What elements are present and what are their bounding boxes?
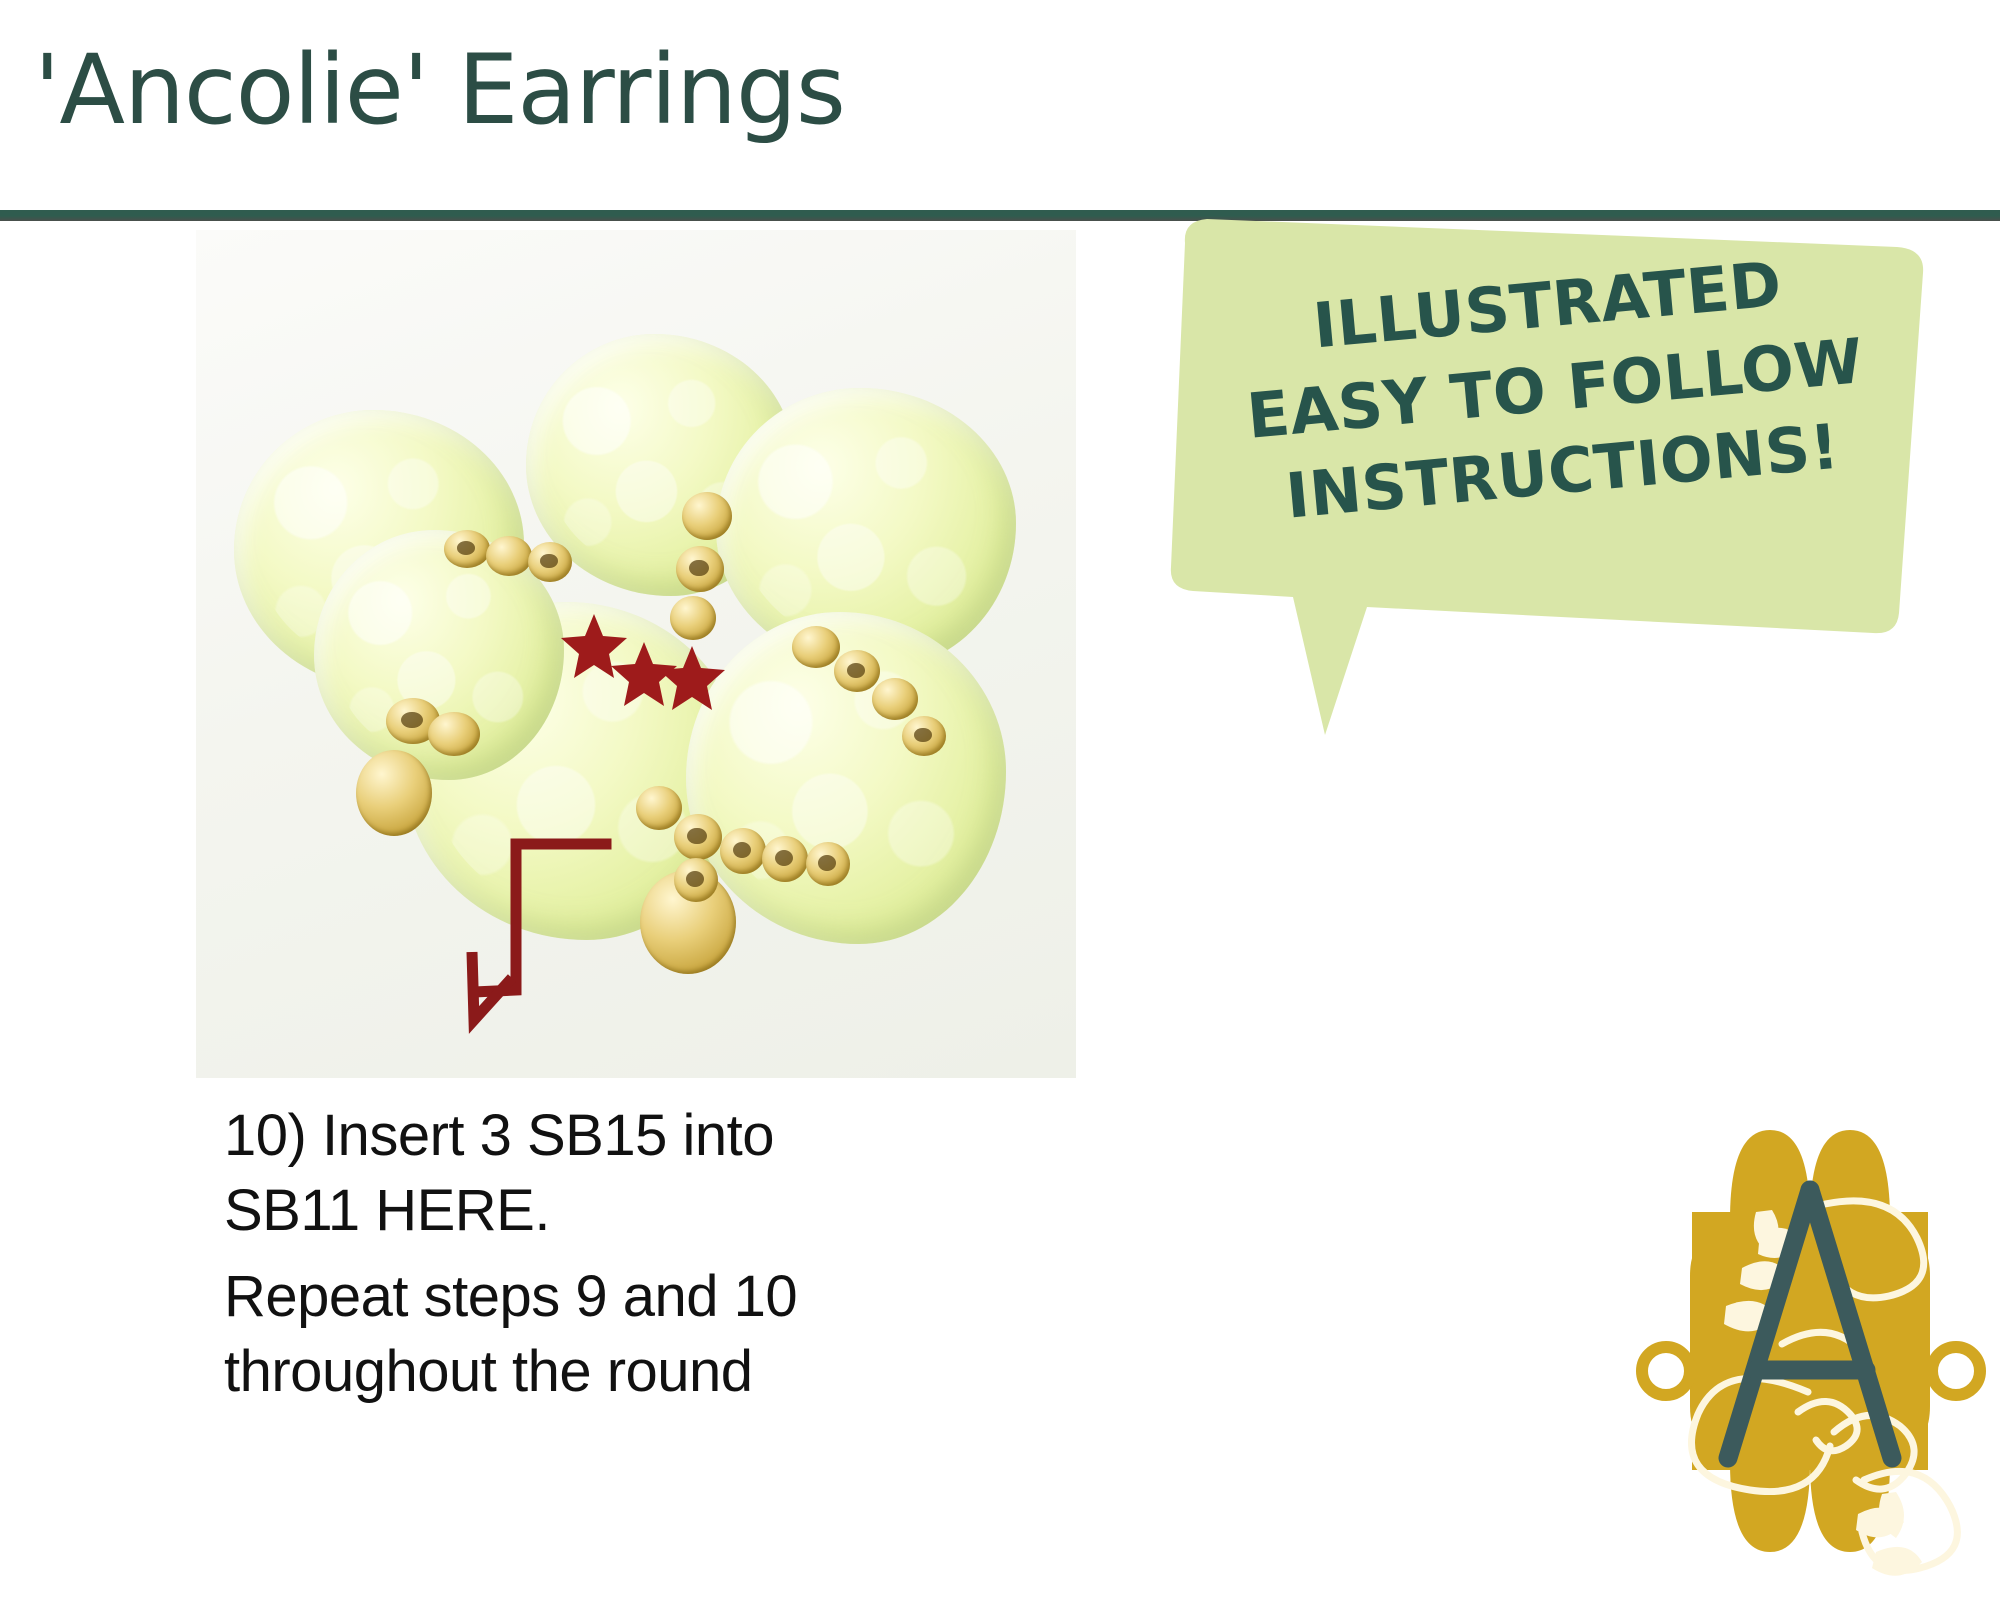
gold-seed-bead: [676, 546, 724, 592]
gold-seed-bead: [636, 786, 682, 830]
instruction-line: throughout the round: [224, 1334, 1124, 1409]
gold-seed-bead: [792, 626, 840, 668]
logo-loop-right-icon: [1926, 1347, 1980, 1395]
gold-seed-bead: [762, 836, 808, 882]
instruction-line: Repeat steps 9 and 10: [224, 1259, 1124, 1334]
gold-seed-bead: [834, 650, 880, 692]
brand-logo: A: [1620, 1082, 2000, 1600]
gold-seed-bead: [486, 536, 532, 576]
brand-logo-mark: A: [1620, 1082, 2000, 1600]
page-title: 'Ancolie' Earrings: [34, 42, 845, 138]
callout-bubble: ILLUSTRATED EASY TO FOLLOW INSTRUCTIONS!: [1155, 215, 1955, 905]
gold-seed-bead: [674, 858, 718, 902]
gold-seed-bead: [872, 678, 918, 720]
gold-seed-bead: [670, 596, 716, 640]
gold-seed-bead: [682, 492, 732, 540]
gold-seed-bead: [428, 712, 480, 756]
instruction-text-block: 10) Insert 3 SB15 into SB11 HERE. Repeat…: [224, 1098, 1124, 1410]
bead-photo: [196, 230, 1076, 1078]
instruction-line: SB11 HERE.: [224, 1173, 1124, 1248]
gold-seed-bead: [528, 542, 572, 582]
gold-seed-bead: [902, 716, 946, 756]
logo-letter-value: A: [1620, 1082, 1631, 1086]
gold-seed-bead: [806, 842, 850, 886]
instruction-line: 10) Insert 3 SB15 into: [224, 1098, 1124, 1173]
gold-seed-bead: [444, 530, 490, 568]
slide-canvas: 'Ancolie' Earrings: [0, 0, 2000, 1600]
gold-seed-bead: [720, 828, 766, 874]
gold-seed-bead: [674, 814, 722, 860]
logo-loop-icon: [1642, 1347, 1698, 1395]
gold-round-bead: [356, 750, 432, 836]
